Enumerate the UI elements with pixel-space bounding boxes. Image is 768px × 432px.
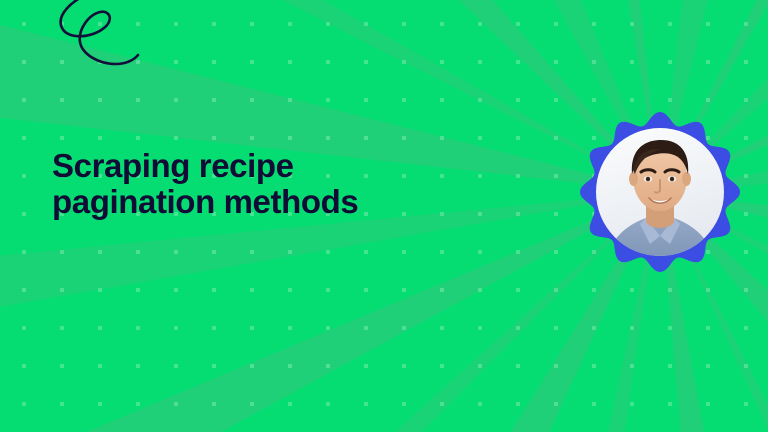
grid-dot (706, 326, 710, 330)
grid-dot (22, 98, 26, 102)
grid-dot (554, 22, 558, 26)
grid-dot (402, 364, 406, 368)
grid-dot (402, 326, 406, 330)
grid-dot (364, 364, 368, 368)
grid-dot (22, 402, 26, 406)
grid-dot (98, 288, 102, 292)
grid-dot (98, 98, 102, 102)
grid-dot (516, 364, 520, 368)
grid-dot (554, 136, 558, 140)
grid-dot (744, 250, 748, 254)
grid-dot (98, 136, 102, 140)
grid-dot (478, 402, 482, 406)
grid-dot (212, 98, 216, 102)
grid-dot (630, 60, 634, 64)
grid-dot (250, 288, 254, 292)
grid-dot (22, 250, 26, 254)
grid-dot (250, 326, 254, 330)
grid-dot (478, 288, 482, 292)
grid-dot (630, 402, 634, 406)
grid-dot (592, 288, 596, 292)
starburst-ray (0, 192, 660, 432)
grid-dot (174, 136, 178, 140)
grid-dot (668, 288, 672, 292)
grid-dot (250, 250, 254, 254)
grid-dot (440, 250, 444, 254)
grid-dot (174, 402, 178, 406)
grid-dot (98, 250, 102, 254)
grid-dot (706, 22, 710, 26)
grid-dot (630, 326, 634, 330)
grid-dot (212, 402, 216, 406)
grid-dot (592, 402, 596, 406)
grid-dot (592, 22, 596, 26)
grid-dot (516, 326, 520, 330)
grid-dot (364, 326, 368, 330)
grid-dot (440, 326, 444, 330)
grid-dot (364, 250, 368, 254)
grid-dot (744, 22, 748, 26)
grid-dot (516, 22, 520, 26)
grid-dot (744, 326, 748, 330)
grid-dot (744, 60, 748, 64)
grid-dot (22, 212, 26, 216)
grid-dot (440, 60, 444, 64)
grid-dot (98, 402, 102, 406)
grid-dot (174, 364, 178, 368)
grid-dot (516, 98, 520, 102)
grid-dot (364, 22, 368, 26)
grid-dot (326, 402, 330, 406)
grid-dot (98, 326, 102, 330)
grid-dot (668, 98, 672, 102)
grid-dot (288, 136, 292, 140)
starburst-ray (0, 192, 660, 415)
grid-dot (60, 364, 64, 368)
grid-dot (478, 174, 482, 178)
grid-dot (668, 364, 672, 368)
grid-dot (22, 60, 26, 64)
title-line-2: pagination methods (52, 184, 452, 220)
grid-dot (288, 288, 292, 292)
grid-dot (326, 60, 330, 64)
grid-dot (440, 288, 444, 292)
grid-dot (326, 288, 330, 292)
squiggle-icon (50, 0, 160, 74)
grid-dot (516, 402, 520, 406)
grid-dot (174, 60, 178, 64)
grid-dot (288, 22, 292, 26)
grid-dot (22, 136, 26, 140)
grid-dot (98, 364, 102, 368)
grid-dot (478, 364, 482, 368)
grid-dot (744, 98, 748, 102)
grid-dot (744, 136, 748, 140)
promo-banner: Scraping recipe pagination methods (0, 0, 768, 432)
grid-dot (250, 402, 254, 406)
grid-dot (212, 326, 216, 330)
grid-dot (60, 402, 64, 406)
grid-dot (402, 98, 406, 102)
grid-dot (706, 402, 710, 406)
grid-dot (744, 402, 748, 406)
grid-dot (402, 22, 406, 26)
grid-dot (706, 98, 710, 102)
grid-dot (744, 288, 748, 292)
grid-dot (326, 326, 330, 330)
grid-dot (516, 212, 520, 216)
grid-dot (554, 60, 558, 64)
grid-dot (554, 250, 558, 254)
grid-dot (326, 364, 330, 368)
grid-dot (326, 250, 330, 254)
grid-dot (250, 22, 254, 26)
grid-dot (212, 364, 216, 368)
grid-dot (592, 364, 596, 368)
grid-dot (478, 22, 482, 26)
grid-dot (136, 364, 140, 368)
grid-dot (326, 98, 330, 102)
grid-dot (402, 250, 406, 254)
grid-dot (174, 22, 178, 26)
grid-dot (554, 402, 558, 406)
grid-dot (22, 326, 26, 330)
grid-dot (440, 136, 444, 140)
grid-dot (706, 364, 710, 368)
grid-dot (288, 326, 292, 330)
grid-dot (250, 60, 254, 64)
grid-dot (22, 174, 26, 178)
grid-dot (744, 174, 748, 178)
grid-dot (516, 174, 520, 178)
grid-dot (630, 98, 634, 102)
grid-dot (212, 250, 216, 254)
grid-dot (288, 98, 292, 102)
grid-dot (440, 364, 444, 368)
grid-dot (288, 364, 292, 368)
grid-dot (478, 250, 482, 254)
grid-dot (326, 136, 330, 140)
grid-dot (60, 250, 64, 254)
grid-dot (478, 326, 482, 330)
grid-dot (288, 250, 292, 254)
grid-dot (554, 212, 558, 216)
grid-dot (136, 250, 140, 254)
grid-dot (60, 288, 64, 292)
grid-dot (516, 250, 520, 254)
grid-dot (668, 326, 672, 330)
grid-dot (250, 364, 254, 368)
grid-dot (478, 212, 482, 216)
grid-dot (250, 98, 254, 102)
grid-dot (402, 288, 406, 292)
grid-dot (554, 364, 558, 368)
grid-dot (136, 326, 140, 330)
grid-dot (592, 98, 596, 102)
grid-dot (136, 98, 140, 102)
title-line-1: Scraping recipe (52, 148, 452, 184)
grid-dot (174, 98, 178, 102)
avatar (576, 108, 744, 276)
grid-dot (440, 98, 444, 102)
grid-dot (60, 326, 64, 330)
grid-dot (60, 98, 64, 102)
grid-dot (288, 402, 292, 406)
grid-dot (364, 136, 368, 140)
grid-dot (478, 98, 482, 102)
grid-dot (516, 60, 520, 64)
grid-dot (478, 136, 482, 140)
grid-dot (516, 136, 520, 140)
grid-dot (212, 22, 216, 26)
grid-dot (212, 136, 216, 140)
grid-dot (364, 288, 368, 292)
grid-dot (402, 60, 406, 64)
grid-dot (364, 98, 368, 102)
grid-dot (630, 22, 634, 26)
grid-dot (630, 364, 634, 368)
grid-dot (554, 326, 558, 330)
grid-dot (174, 326, 178, 330)
starburst-ray (0, 192, 660, 432)
grid-dot (136, 136, 140, 140)
grid-dot (402, 136, 406, 140)
grid-dot (592, 326, 596, 330)
grid-dot (668, 402, 672, 406)
grid-dot (22, 288, 26, 292)
grid-dot (744, 364, 748, 368)
grid-dot (440, 402, 444, 406)
grid-dot (592, 60, 596, 64)
grid-dot (288, 60, 292, 64)
grid-dot (250, 136, 254, 140)
starburst-ray (0, 192, 660, 432)
grid-dot (326, 22, 330, 26)
grid-dot (554, 174, 558, 178)
page-title: Scraping recipe pagination methods (52, 148, 452, 220)
grid-dot (22, 22, 26, 26)
grid-dot (706, 60, 710, 64)
grid-dot (668, 22, 672, 26)
grid-dot (478, 60, 482, 64)
grid-dot (440, 22, 444, 26)
grid-dot (554, 288, 558, 292)
grid-dot (516, 288, 520, 292)
grid-dot (22, 364, 26, 368)
grid-dot (174, 250, 178, 254)
grid-dot (364, 60, 368, 64)
grid-dot (744, 212, 748, 216)
grid-dot (630, 288, 634, 292)
grid-dot (402, 402, 406, 406)
grid-dot (212, 288, 216, 292)
grid-dot (668, 60, 672, 64)
grid-dot (60, 136, 64, 140)
grid-dot (136, 288, 140, 292)
grid-dot (554, 98, 558, 102)
grid-dot (136, 402, 140, 406)
grid-dot (174, 288, 178, 292)
grid-dot (364, 402, 368, 406)
grid-dot (212, 60, 216, 64)
grid-dot (706, 288, 710, 292)
